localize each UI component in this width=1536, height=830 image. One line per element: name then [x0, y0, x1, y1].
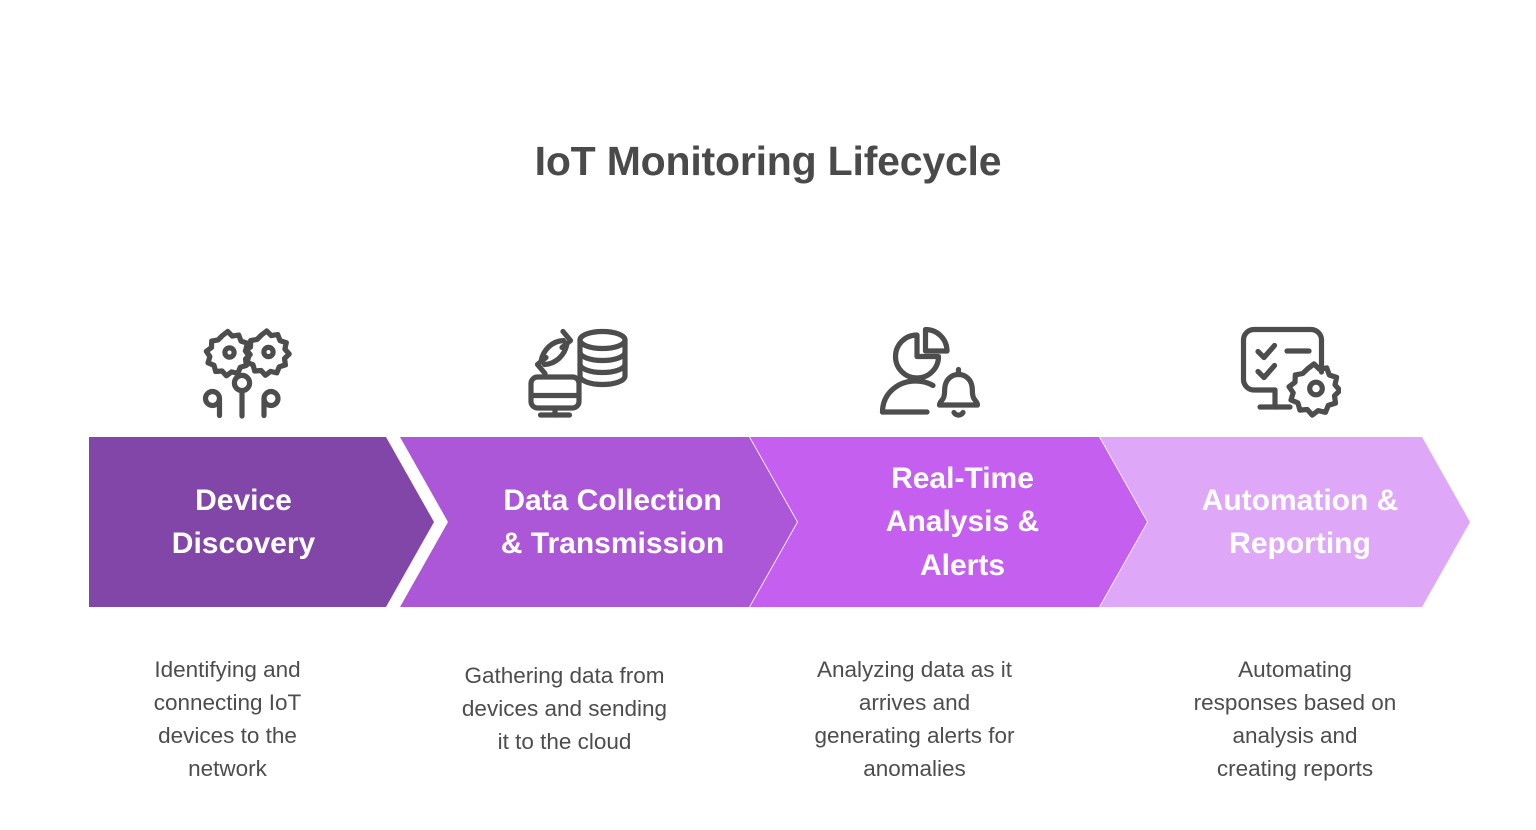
stage-chevron-device-discovery[interactable]: Device Discovery — [89, 437, 434, 607]
stage-label: Device Discovery — [154, 479, 333, 565]
infographic-canvas: IoT Monitoring Lifecycle — [0, 0, 1536, 830]
pie-chart-person-bell-icon — [750, 318, 1105, 428]
gears-network-icon — [89, 318, 394, 428]
stage-label: Automation & Reporting — [1184, 479, 1417, 565]
monitor-database-transfer-icon — [400, 318, 755, 428]
stage-list: Device Discovery Identifying and connect… — [0, 0, 1536, 830]
stage-automation-reporting: Automation & Reporting Automating respon… — [1100, 0, 1470, 830]
stage-realtime-analysis: Real-Time Analysis & Alerts Analyzing da… — [750, 0, 1147, 830]
stage-caption: Identifying and connecting IoT devices t… — [75, 653, 380, 785]
stage-chevron-data-collection[interactable]: Data Collection & Transmission — [400, 437, 797, 607]
stage-label: Data Collection & Transmission — [483, 479, 742, 565]
stage-caption: Analyzing data as it arrives and generat… — [737, 653, 1092, 785]
stage-chevron-automation-reporting[interactable]: Automation & Reporting — [1100, 437, 1470, 607]
stage-label: Real-Time Analysis & Alerts — [868, 457, 1057, 587]
stage-device-discovery: Device Discovery Identifying and connect… — [89, 0, 434, 830]
checklist-monitor-gear-icon — [1100, 318, 1478, 428]
stage-chevron-realtime-analysis[interactable]: Real-Time Analysis & Alerts — [750, 437, 1147, 607]
stage-caption: Gathering data from devices and sending … — [387, 659, 742, 758]
stage-caption: Automating responses based on analysis a… — [1106, 653, 1484, 785]
